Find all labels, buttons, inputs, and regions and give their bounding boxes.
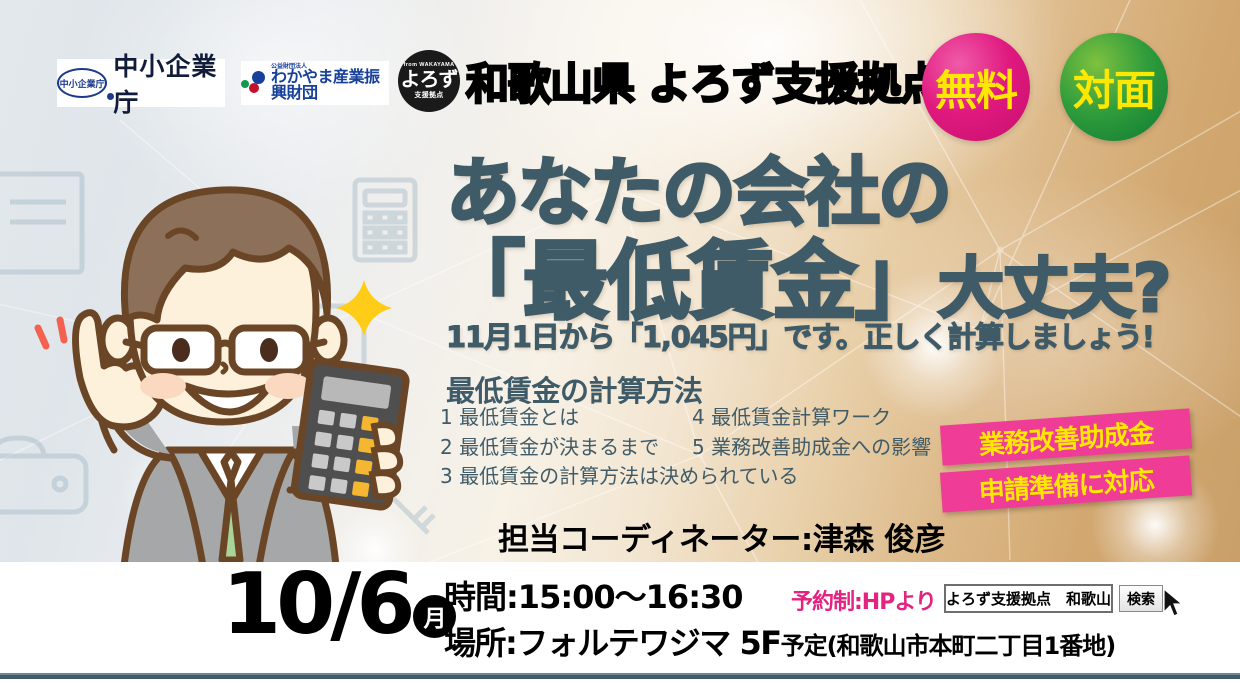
cursor-arrow-icon: [1162, 588, 1184, 618]
yorozu-stamp-mid: よろず: [401, 70, 458, 90]
agenda-list: 1 最低賃金とは 4 最低賃金計算ワーク 2 最低賃金が決まるまで 5 業務改善…: [440, 403, 950, 492]
event-time: 時間:15:00〜16:30: [444, 572, 743, 618]
search-widget[interactable]: よろず支援拠点 和歌山 検索: [944, 584, 1163, 613]
chusho-mark-label: 中小企業庁: [57, 68, 107, 98]
list-item: 3 最低賃金の計算方法は決められている: [440, 462, 950, 492]
event-place: 場所:フォルテワジマ 5F 予定(和歌山市本町二丁目1番地): [444, 618, 1115, 664]
agenda-item-5: 5 業務改善助成金への影響: [692, 433, 931, 463]
subheadline: 11月1日から「1,045円」です。正しく計算しましょう!: [446, 314, 1154, 356]
badge-free: 無料: [922, 33, 1030, 141]
agenda-item-2: 2 最低賃金が決まるまで: [440, 433, 692, 463]
event-date-block: 10/6 月: [222, 565, 456, 646]
event-place-label: 場所:フォルテワジマ 5F: [444, 618, 781, 664]
event-date: 10/6: [222, 565, 410, 646]
footer-rule-highlight: [0, 673, 1240, 675]
flyer-poster: 中小企業庁 中小企業庁 公益財団法人 わかやま産業振興財団 from WAKAY…: [0, 0, 1240, 683]
search-input[interactable]: よろず支援拠点 和歌山: [944, 584, 1113, 613]
logo-wakayama-foundation: 公益財団法人 わかやま産業振興財団: [241, 61, 389, 105]
agenda-item-1: 1 最低賃金とは: [440, 403, 692, 433]
list-item: 1 最低賃金とは 4 最低賃金計算ワーク: [440, 403, 950, 433]
sparkle-icon: [334, 278, 394, 338]
yorozu-stamp-logo: from WAKAYAMA よろず 支援拠点: [398, 50, 460, 112]
chusho-name: 中小企業庁: [113, 47, 225, 119]
wakayama-logo-dots: [241, 71, 267, 95]
wakayama-name-group: 公益財団法人 わかやま産業振興財団: [271, 64, 389, 102]
wakayama-name: わかやま産業振興財団: [271, 69, 380, 102]
reservation-note: 予約制:HPより: [791, 584, 936, 616]
event-place-note: 予定(和歌山市本町二丁目1番地): [781, 626, 1116, 661]
badge-in-person: 対面: [1060, 33, 1168, 141]
agenda-item-3: 3 最低賃金の計算方法は決められている: [440, 462, 798, 492]
yorozu-stamp-top: from WAKAYAMA: [404, 63, 455, 69]
agenda-item-4: 4 最低賃金計算ワーク: [692, 403, 891, 433]
page-title: 和歌山県 よろず支援拠点: [466, 52, 942, 110]
list-item: 2 最低賃金が決まるまで 5 業務改善助成金への影響: [440, 433, 950, 463]
search-button[interactable]: 検索: [1119, 585, 1163, 612]
yorozu-stamp-bottom: 支援拠点: [414, 92, 443, 99]
businessman-illustration: [18, 150, 448, 566]
coordinator-name: 担当コーディネーター:津森 俊彦: [498, 514, 945, 559]
logo-chusho-kigyocho: 中小企業庁 中小企業庁: [57, 59, 225, 107]
